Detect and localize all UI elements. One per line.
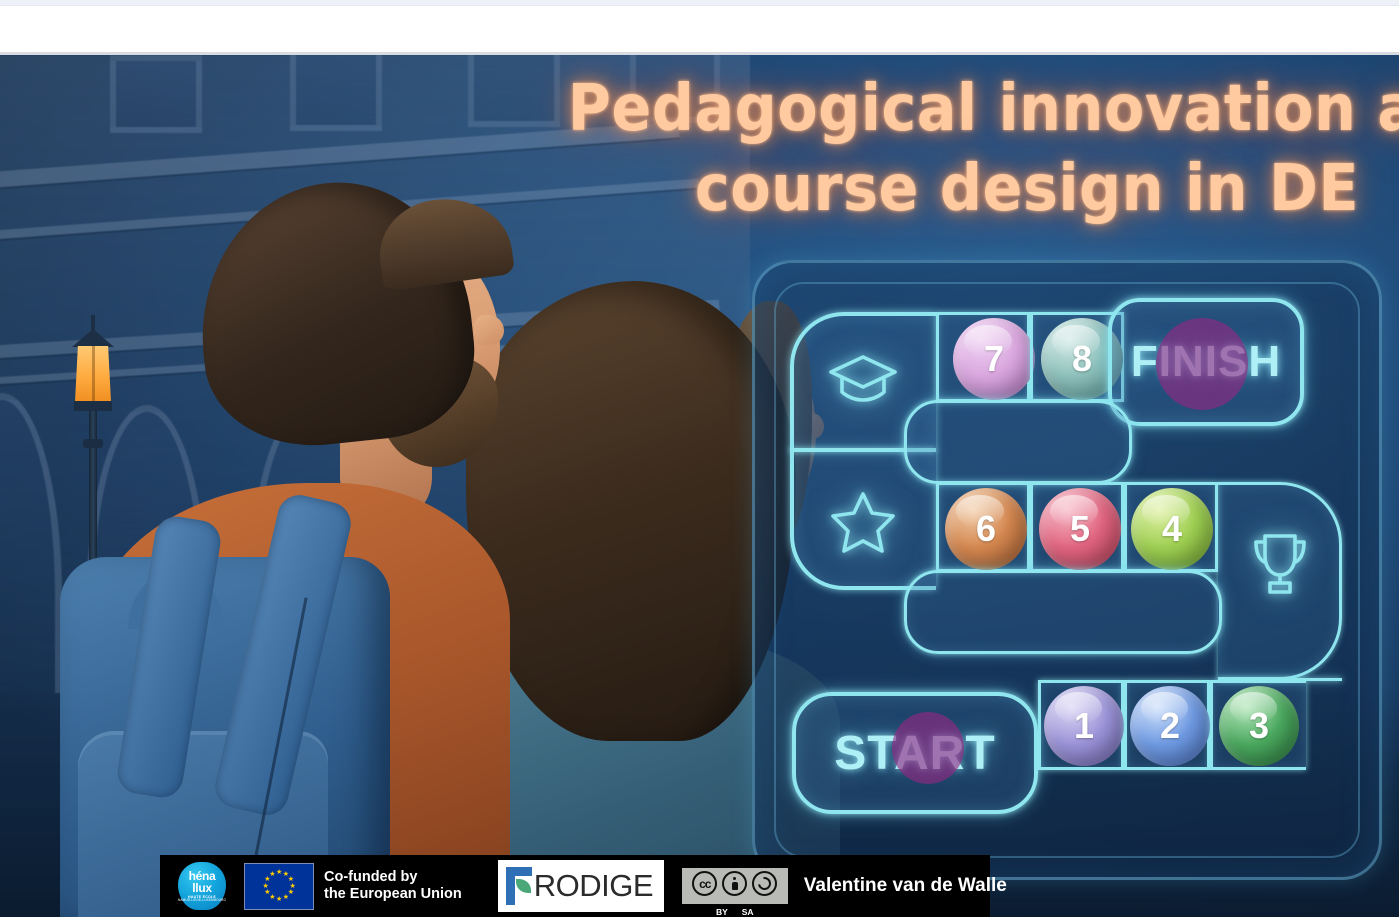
cc-by-label: BY bbox=[716, 907, 728, 917]
eu-flag-icon: ★★★★★★★★★★★★ bbox=[244, 863, 314, 910]
board-finish-cell: FINISH bbox=[1108, 298, 1304, 426]
board-token-label: 1 bbox=[1074, 705, 1094, 747]
board-cell-6: 6 bbox=[936, 482, 1030, 572]
board-cell-5: 5 bbox=[1030, 482, 1124, 572]
board-token-label: 6 bbox=[976, 508, 996, 550]
student-man-figure bbox=[50, 165, 520, 917]
prodige-logo: RODIGE bbox=[498, 860, 664, 912]
board-token-label: 4 bbox=[1162, 508, 1182, 550]
footer-credits-bar: héna llux HAUTE ÉCOLE NAMUR-LIÈGE-LUXEMB… bbox=[160, 855, 990, 917]
board-token-6: 6 bbox=[945, 488, 1027, 570]
board-path-connector-bottom bbox=[904, 570, 1222, 654]
board-cell-3: 3 bbox=[1210, 680, 1306, 770]
board-token-2: 2 bbox=[1130, 686, 1210, 766]
hennalux-line-1: héna bbox=[189, 870, 216, 882]
eu-funding-line-2: the European Union bbox=[324, 886, 462, 903]
eu-star-icon: ★ bbox=[276, 897, 282, 903]
eu-star-icon: ★ bbox=[288, 877, 294, 883]
board-cell-2: 2 bbox=[1124, 680, 1210, 770]
cc-sa-icon bbox=[752, 871, 777, 896]
board-cell-trophy bbox=[1218, 500, 1342, 630]
board-token-label: 7 bbox=[984, 338, 1004, 380]
graduation-cap-icon bbox=[826, 351, 900, 409]
board-token-label: 2 bbox=[1160, 705, 1180, 747]
slide-canvas: Pedagogical innovation and course design… bbox=[0, 55, 1399, 917]
slide-root: Pedagogical innovation and course design… bbox=[0, 0, 1399, 917]
cc-sa-label: SA bbox=[742, 907, 754, 917]
cc-license-badge: cc BY SA bbox=[682, 860, 788, 912]
prodige-wordmark: RODIGE bbox=[534, 868, 653, 904]
eu-star-icon: ★ bbox=[269, 872, 275, 878]
prodige-p-mark-icon bbox=[506, 867, 532, 905]
board-token-7: 7 bbox=[953, 318, 1035, 400]
neon-board-game: 7 8 FINISH 6 bbox=[752, 260, 1382, 880]
board-path-connector-top bbox=[904, 400, 1132, 484]
slide-title-line-2: course design in DE bbox=[568, 149, 1359, 229]
hennalux-line-2: llux bbox=[192, 882, 211, 894]
board-token-label: 8 bbox=[1072, 338, 1092, 380]
board-token-label: 5 bbox=[1070, 508, 1090, 550]
eu-star-icon: ★ bbox=[264, 890, 270, 896]
star-icon bbox=[829, 489, 897, 553]
eu-star-icon: ★ bbox=[263, 884, 269, 890]
board-start-label: START bbox=[796, 696, 1034, 810]
board-token-1: 1 bbox=[1044, 686, 1124, 766]
board-finish-label: FINISH bbox=[1112, 302, 1300, 422]
top-tab-hint bbox=[0, 0, 1399, 6]
cc-by-icon bbox=[722, 871, 747, 896]
board-start-cell: START bbox=[792, 692, 1038, 814]
hennalux-line-4: NAMUR-LIÈGE-LUXEMBOURG bbox=[178, 899, 226, 902]
board-cell-4: 4 bbox=[1124, 482, 1218, 572]
board-token-5: 5 bbox=[1039, 488, 1121, 570]
eu-funding-line-1: Co-funded by bbox=[324, 869, 462, 886]
board-cell-1: 1 bbox=[1038, 680, 1124, 770]
cc-icon: cc bbox=[692, 871, 717, 896]
facade-window bbox=[110, 55, 202, 133]
trophy-icon bbox=[1243, 528, 1317, 602]
slide-title-line-1: Pedagogical innovation and bbox=[568, 69, 1359, 149]
hennalux-logo: héna llux HAUTE ÉCOLE NAMUR-LIÈGE-LUXEMB… bbox=[178, 862, 226, 910]
slide-title: Pedagogical innovation and course design… bbox=[499, 69, 1359, 229]
board-token-3: 3 bbox=[1219, 686, 1299, 766]
board-token-4: 4 bbox=[1131, 488, 1213, 570]
eu-star-icon: ★ bbox=[276, 870, 282, 876]
author-credit: Valentine van de Walle bbox=[804, 875, 1007, 897]
board-cell-7: 7 bbox=[936, 312, 1030, 402]
eu-funding-text: Co-funded by the European Union bbox=[314, 869, 462, 903]
eu-star-icon: ★ bbox=[283, 895, 289, 901]
board-token-label: 3 bbox=[1249, 705, 1269, 747]
top-chrome-strip bbox=[0, 0, 1399, 55]
facade-window bbox=[290, 55, 382, 131]
